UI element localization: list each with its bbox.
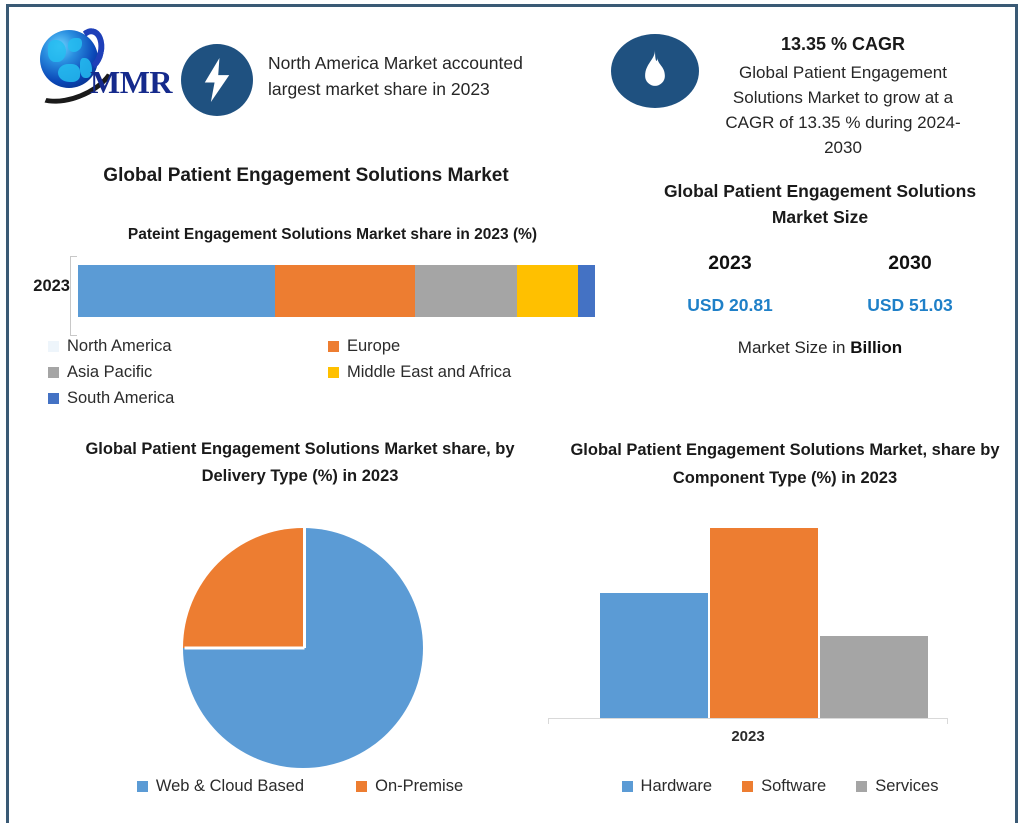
- market-size-title: Global Patient Engagement Solutions Mark…: [640, 178, 1000, 230]
- header-highlight-text: North America Market accounted largest m…: [268, 50, 568, 102]
- header: MMR North America Market accounted large…: [0, 0, 1024, 150]
- cagr-headline: 13.35 % CAGR: [712, 34, 974, 55]
- column-chart-tick-right: [947, 718, 948, 724]
- component-type-chart: Global Patient Engagement Solutions Mark…: [540, 428, 1020, 818]
- column-bar: [710, 528, 818, 718]
- legend-item: Web & Cloud Based: [137, 773, 304, 799]
- column-chart-bars: [600, 528, 940, 718]
- legend-swatch-icon: [48, 341, 59, 352]
- stacked-bar-segment: [275, 265, 415, 317]
- legend-swatch-icon: [856, 781, 867, 792]
- pie-slice-divider: [303, 528, 306, 648]
- column-chart-axis-line: [548, 718, 948, 719]
- column-chart-legend: HardwareSoftwareServices: [560, 773, 1000, 799]
- column-chart-plot: [550, 528, 950, 718]
- column-bar: [820, 636, 928, 718]
- pie-chart-graphic: [183, 528, 423, 768]
- stacked-bar: [78, 265, 595, 317]
- market-size-unit-note: Market Size in Billion: [640, 338, 1000, 358]
- legend-item: Middle East and Africa: [328, 359, 608, 385]
- cagr-description: Global Patient Engagement Solutions Mark…: [712, 60, 974, 160]
- legend-label: Hardware: [641, 777, 713, 796]
- market-size-year-right: 2030: [840, 252, 980, 275]
- legend-swatch-icon: [356, 781, 367, 792]
- legend-label: Services: [875, 777, 938, 796]
- stacked-bar-segment: [78, 265, 275, 317]
- pie-chart-legend: Web & Cloud BasedOn-Premise: [100, 773, 500, 799]
- legend-label: Middle East and Africa: [347, 363, 511, 382]
- lightning-bolt-icon: [202, 58, 232, 102]
- legend-swatch-icon: [328, 341, 339, 352]
- market-size-value-right: USD 51.03: [840, 295, 980, 316]
- stacked-bar-legend: North AmericaEuropeAsia PacificMiddle Ea…: [48, 333, 608, 411]
- market-size-years: 2023 2030: [640, 252, 1000, 275]
- legend-item: Software: [742, 773, 826, 799]
- brand-logo: MMR: [18, 22, 168, 102]
- legend-label: North America: [67, 337, 172, 356]
- market-size-value-left: USD 20.81: [660, 295, 800, 316]
- stacked-bar-segment: [578, 265, 595, 317]
- pie-slice-divider: [185, 647, 305, 650]
- legend-swatch-icon: [328, 367, 339, 378]
- market-size-unit-prefix: Market Size in: [738, 338, 850, 357]
- legend-item: Hardware: [622, 773, 713, 799]
- pie-chart-title: Global Patient Engagement Solutions Mark…: [60, 436, 540, 490]
- market-size-values: USD 20.81 USD 51.03: [640, 295, 1000, 316]
- infographic-canvas: MMR North America Market accounted large…: [0, 0, 1024, 823]
- legend-item: South America: [48, 385, 328, 411]
- market-size-unit-bold: Billion: [850, 338, 902, 357]
- cagr-badge-flame: [611, 34, 699, 108]
- stacked-bar-subtitle: Pateint Engagement Solutions Market shar…: [60, 223, 605, 247]
- stacked-bar-segment: [517, 265, 578, 317]
- flame-icon: [640, 50, 670, 92]
- legend-item: Europe: [328, 333, 608, 359]
- column-bar: [600, 593, 708, 718]
- brand-logo-text: MMR: [90, 64, 172, 101]
- column-chart-tick-left: [548, 718, 549, 724]
- legend-item: On-Premise: [356, 773, 463, 799]
- column-chart-x-label: 2023: [548, 728, 948, 745]
- stacked-bar-segment: [415, 265, 517, 317]
- legend-label: Web & Cloud Based: [156, 777, 304, 796]
- stacked-bar-y-label: 2023: [10, 277, 70, 296]
- legend-label: Europe: [347, 337, 400, 356]
- market-size-block: Global Patient Engagement Solutions Mark…: [640, 178, 1000, 358]
- legend-item: Asia Pacific: [48, 359, 328, 385]
- main-chart-title: Global Patient Engagement Solutions Mark…: [0, 165, 612, 187]
- legend-label: Asia Pacific: [67, 363, 152, 382]
- legend-swatch-icon: [48, 393, 59, 404]
- highlight-badge-bolt: [181, 44, 253, 116]
- legend-label: South America: [67, 389, 174, 408]
- legend-label: On-Premise: [375, 777, 463, 796]
- column-chart-title: Global Patient Engagement Solutions Mark…: [570, 436, 1000, 492]
- legend-swatch-icon: [622, 781, 633, 792]
- market-size-year-left: 2023: [660, 252, 800, 275]
- legend-swatch-icon: [137, 781, 148, 792]
- legend-item: North America: [48, 333, 328, 359]
- legend-swatch-icon: [742, 781, 753, 792]
- legend-label: Software: [761, 777, 826, 796]
- regional-share-chart: Global Patient Engagement Solutions Mark…: [0, 155, 612, 415]
- delivery-type-chart: Global Patient Engagement Solutions Mark…: [60, 428, 540, 818]
- legend-swatch-icon: [48, 367, 59, 378]
- legend-item: Services: [856, 773, 938, 799]
- cagr-block: 13.35 % CAGR Global Patient Engagement S…: [712, 34, 974, 160]
- stacked-bar-axis-bracket: [70, 256, 77, 336]
